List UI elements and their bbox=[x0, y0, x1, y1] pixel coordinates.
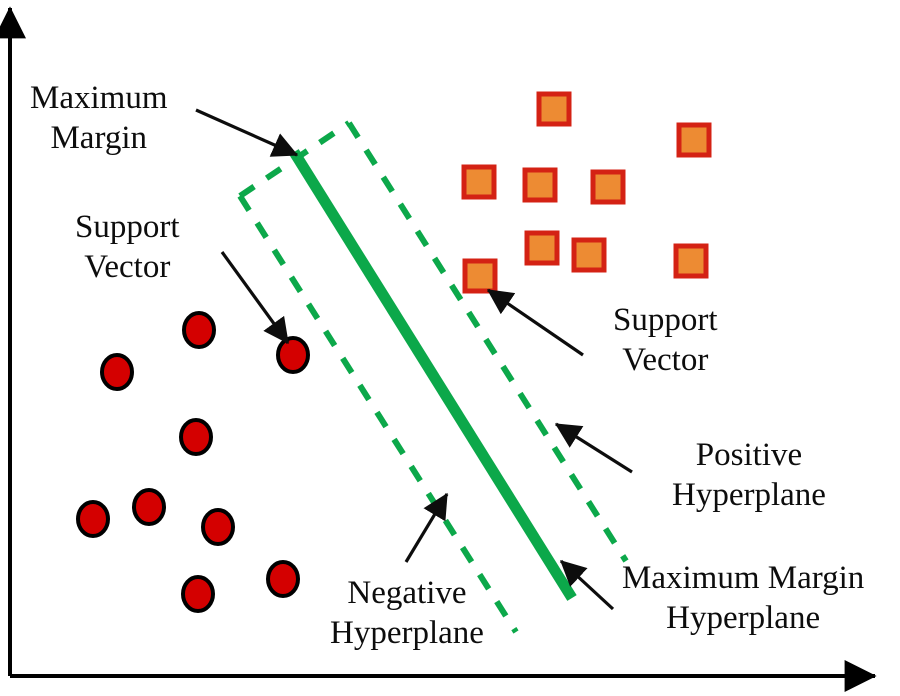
circle-9 bbox=[268, 562, 298, 596]
arrow-to-support-vector-right bbox=[488, 290, 583, 355]
square-6 bbox=[527, 233, 557, 263]
circle-1 bbox=[102, 355, 132, 389]
arrow-to-positive-hyperplane bbox=[556, 424, 632, 472]
square-8 bbox=[676, 246, 706, 276]
circle-7 bbox=[203, 510, 233, 544]
circle-4 bbox=[181, 420, 211, 454]
circle-2 bbox=[184, 313, 214, 347]
circle-8 bbox=[183, 577, 213, 611]
square-9 bbox=[465, 261, 495, 291]
positive-hyperplane-label: Positive Hyperplane bbox=[672, 435, 826, 515]
arrow-to-maximum-margin bbox=[196, 110, 297, 155]
support-vector-right-label: Support Vector bbox=[613, 300, 718, 380]
square-3 bbox=[464, 167, 494, 197]
square-1 bbox=[539, 94, 569, 124]
square-4 bbox=[525, 170, 555, 200]
circle-3 bbox=[278, 338, 308, 372]
annotation-arrows bbox=[196, 110, 632, 609]
svm-diagram-figure: Maximum Margin Support Vector Support Ve… bbox=[0, 0, 900, 696]
negative-hyperplane-label: Negative Hyperplane bbox=[330, 573, 484, 653]
arrow-to-negative-hyperplane bbox=[406, 494, 447, 562]
maximum-margin-label: Maximum Margin bbox=[30, 78, 168, 158]
square-2 bbox=[679, 125, 709, 155]
maximum-margin-hyperplane bbox=[294, 152, 572, 598]
hyperplanes bbox=[240, 123, 626, 632]
square-7 bbox=[574, 240, 604, 270]
circle-6 bbox=[134, 490, 164, 524]
support-vector-left-label: Support Vector bbox=[75, 207, 180, 287]
arrow-to-support-vector-left bbox=[222, 252, 288, 343]
square-5 bbox=[593, 172, 623, 202]
circle-5 bbox=[78, 502, 108, 536]
maximum-margin-hyperplane-label: Maximum Margin Hyperplane bbox=[622, 558, 864, 638]
